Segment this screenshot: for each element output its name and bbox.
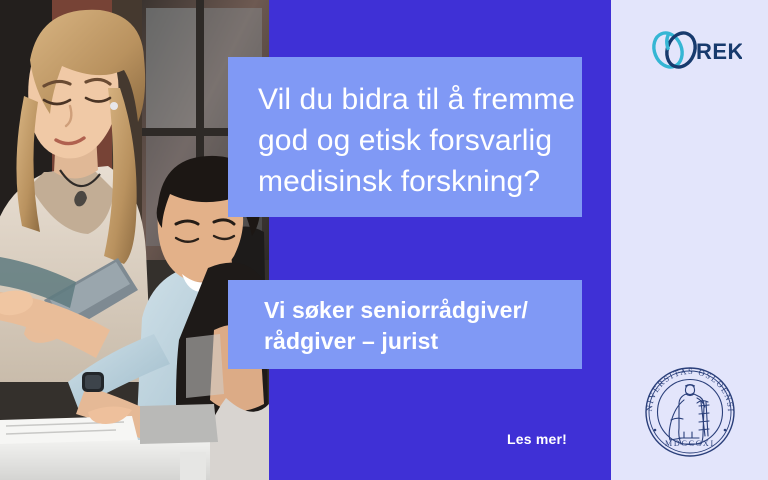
rek-interlocking-rings-icon (650, 29, 700, 72)
seal-ring-text: UNIVERSITAS OSLOENSIS (640, 362, 735, 413)
rek-wordmark: REK (696, 39, 742, 64)
headline-line-1: Vil du bidra til å fremme (258, 79, 556, 120)
headline-line-2: god og etisk forsvarlig (258, 120, 556, 161)
job-box: Vi søker seniorrådgiver/ rådgiver – juri… (228, 280, 582, 369)
read-more-link[interactable]: Les mer! (507, 431, 567, 447)
uio-seal: UNIVERSITAS OSLOENSIS MDCCCXI (640, 362, 740, 462)
headline-box: Vil du bidra til å fremme god og etisk f… (228, 57, 582, 217)
recruitment-banner: Vil du bidra til å fremme god og etisk f… (0, 0, 768, 480)
rek-logo[interactable]: REK (650, 28, 742, 72)
apollo-with-lyre-icon (669, 385, 709, 445)
job-line-1: Vi søker seniorrådgiver/ (264, 295, 562, 326)
headline-line-3: medisinsk forskning? (258, 161, 556, 202)
job-line-2: rådgiver – jurist (264, 326, 562, 357)
